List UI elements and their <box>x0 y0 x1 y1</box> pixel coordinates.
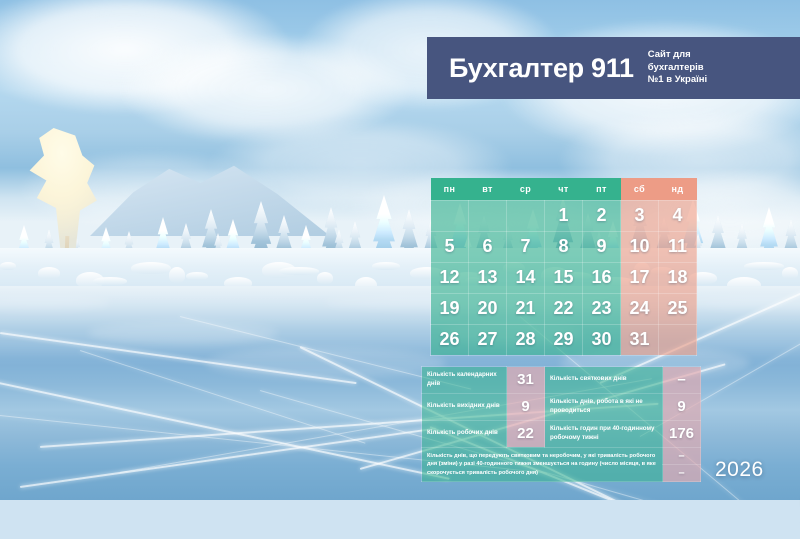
calendar-day-21[interactable]: 21 <box>507 293 545 324</box>
statistics-body: Кількість календарних днів31Кількість св… <box>422 367 701 482</box>
calendar-weekday-сб: сб <box>621 178 659 200</box>
calendar-weekday-чт: чт <box>545 178 583 200</box>
calendar-day-30[interactable]: 30 <box>583 324 621 355</box>
stat-right-value-3: 176 <box>663 420 701 447</box>
calendar-day-empty <box>431 200 469 231</box>
calendar-weekday-ср: ср <box>507 178 545 200</box>
statistics-row: Кількість вихідних днів9Кількість днів, … <box>422 393 701 420</box>
stat-left-label-1: Кількість календарних днів <box>422 367 507 394</box>
stat-right-label-1: Кількість святкових днів <box>545 367 663 394</box>
snow-bush <box>38 267 60 279</box>
calendar-week-row: 12131415161718 <box>431 262 697 293</box>
calendar-day-empty <box>469 200 507 231</box>
calendar-weekday-пт: пт <box>583 178 621 200</box>
calendar-weekday-нд: нд <box>659 178 697 200</box>
calendar-day-11[interactable]: 11 <box>659 231 697 262</box>
statistics-note-row: Кількість днів, що передують святковим т… <box>422 447 701 464</box>
calendar-day-4[interactable]: 4 <box>659 200 697 231</box>
ice-crack <box>0 378 450 480</box>
calendar-body: 1234567891011121314151617181920212223242… <box>431 200 697 355</box>
calendar-day-empty <box>507 200 545 231</box>
stat-left-value-3: 22 <box>507 420 545 447</box>
snow-bush <box>0 262 16 270</box>
calendar-day-25[interactable]: 25 <box>659 293 697 324</box>
calendar-day-27[interactable]: 27 <box>469 324 507 355</box>
calendar-day-23[interactable]: 23 <box>583 293 621 324</box>
stat-left-label-2: Кількість вихідних днів <box>422 393 507 420</box>
calendar-day-6[interactable]: 6 <box>469 231 507 262</box>
calendar-week-row: 567891011 <box>431 231 697 262</box>
stat-left-label-3: Кількість робочих днів <box>422 420 507 447</box>
stat-note-value-2: – <box>663 464 701 481</box>
calendar-day-empty <box>659 324 697 355</box>
calendar-day-31[interactable]: 31 <box>621 324 659 355</box>
stat-right-label-2: Кількість днів, робота в які не проводит… <box>545 393 663 420</box>
calendar-weekday-header-row: пнвтсрчтптсбнд <box>431 178 697 200</box>
snow-bush <box>169 267 185 283</box>
calendar-day-18[interactable]: 18 <box>659 262 697 293</box>
snow-bush <box>372 262 400 270</box>
calendar-week-row: 19202122232425 <box>431 293 697 324</box>
stat-right-value-2: 9 <box>663 393 701 420</box>
calendar-day-14[interactable]: 14 <box>507 262 545 293</box>
calendar-day-3[interactable]: 3 <box>621 200 659 231</box>
stat-left-value-2: 9 <box>507 393 545 420</box>
stat-left-value-1: 31 <box>507 367 545 394</box>
year-label: 2026 <box>715 458 764 482</box>
month-statistics-table: Кількість календарних днів31Кількість св… <box>421 366 701 482</box>
brand-title: Бухгалтер 911 <box>449 53 634 84</box>
month-calendar-grid: пнвтсрчтптсбнд 1234567891011121314151617… <box>430 178 697 356</box>
statistics-row: Кількість календарних днів31Кількість св… <box>422 367 701 394</box>
calendar-day-10[interactable]: 10 <box>621 231 659 262</box>
stat-right-value-1: – <box>663 367 701 394</box>
snow-bush <box>279 267 319 275</box>
calendar-weekday-пн: пн <box>431 178 469 200</box>
brand-header: Бухгалтер 911 Сайт для бухгалтерів №1 в … <box>427 37 800 99</box>
calendar-week-row: 1234 <box>431 200 697 231</box>
statistics-row: Кількість робочих днів22Кількість годин … <box>422 420 701 447</box>
calendar-day-22[interactable]: 22 <box>545 293 583 324</box>
stat-note-label: Кількість днів, що передують святковим т… <box>422 447 663 481</box>
snow-bush <box>782 267 798 279</box>
calendar-day-17[interactable]: 17 <box>621 262 659 293</box>
brand-subtitle-line-2: бухгалтерів <box>648 62 707 75</box>
calendar-day-1[interactable]: 1 <box>545 200 583 231</box>
month-name: Січень <box>796 395 800 539</box>
calendar-day-7[interactable]: 7 <box>507 231 545 262</box>
brand-subtitle-line-1: Сайт для <box>648 49 707 62</box>
calendar-day-15[interactable]: 15 <box>545 262 583 293</box>
calendar-day-24[interactable]: 24 <box>621 293 659 324</box>
snow-bush <box>744 262 784 270</box>
calendar-weekday-вт: вт <box>469 178 507 200</box>
calendar-day-20[interactable]: 20 <box>469 293 507 324</box>
calendar-day-19[interactable]: 19 <box>431 293 469 324</box>
calendar-day-8[interactable]: 8 <box>545 231 583 262</box>
calendar-week-row: 262728293031 <box>431 324 697 355</box>
calendar-day-13[interactable]: 13 <box>469 262 507 293</box>
snow-bush <box>186 272 208 280</box>
calendar-day-12[interactable]: 12 <box>431 262 469 293</box>
stat-note-value-1: – <box>663 447 701 464</box>
stat-right-label-3: Кількість годин при 40-годинному робочом… <box>545 420 663 447</box>
calendar-day-16[interactable]: 16 <box>583 262 621 293</box>
snow-bush <box>131 262 171 274</box>
ice-crack <box>20 428 436 488</box>
calendar-day-9[interactable]: 9 <box>583 231 621 262</box>
calendar-day-29[interactable]: 29 <box>545 324 583 355</box>
calendar-day-5[interactable]: 5 <box>431 231 469 262</box>
brand-subtitle: Сайт для бухгалтерів №1 в Україні <box>648 49 707 87</box>
snow-bush <box>93 277 127 285</box>
calendar-day-28[interactable]: 28 <box>507 324 545 355</box>
brand-subtitle-line-3: №1 в Україні <box>648 74 707 87</box>
snow-bush <box>317 272 333 284</box>
calendar-day-26[interactable]: 26 <box>431 324 469 355</box>
calendar-day-2[interactable]: 2 <box>583 200 621 231</box>
